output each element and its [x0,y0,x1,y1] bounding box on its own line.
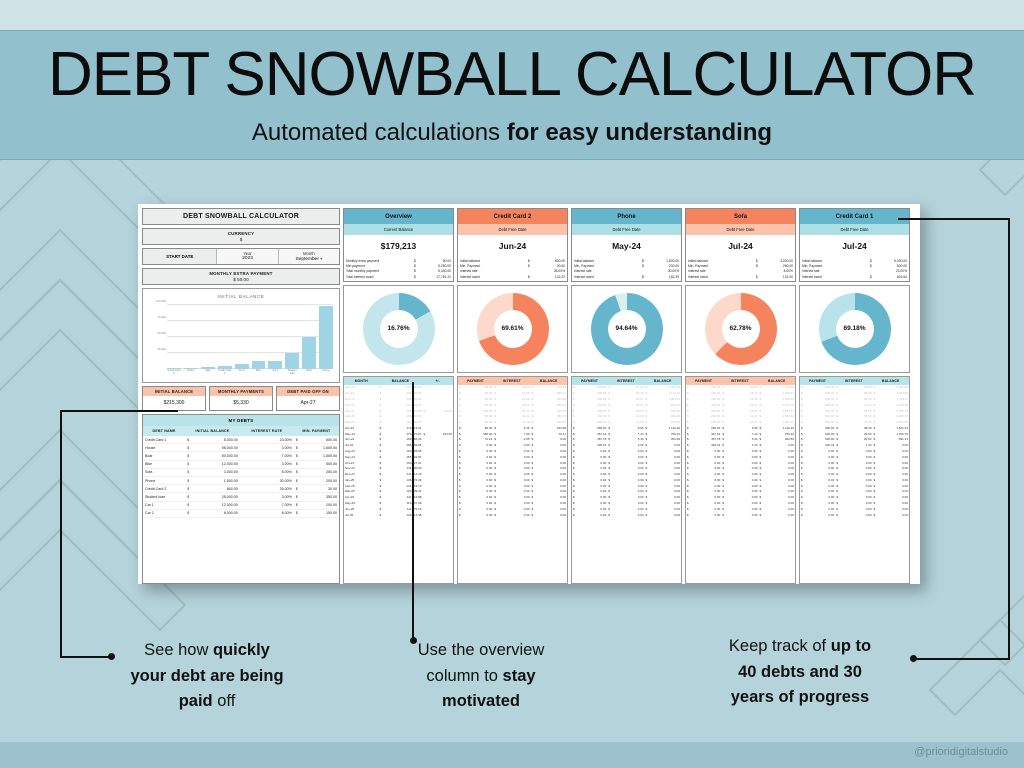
amortization-table[interactable]: MONTHBALANCE+/-Sep-23$215,300.00Oct-23$2… [343,376,454,585]
card-stat-row: Initial balance$800.00 [460,258,565,263]
amort-header-row: PAYMENTINTERESTBALANCE [800,377,909,385]
debt-min-payment: 30.00 [302,485,339,493]
donut-percent-label: 69.61% [494,310,532,348]
card-title: Sofa [686,209,795,224]
bar-chart-bar [302,337,316,369]
summary-cell-value: $215,300 [143,396,205,410]
currency-symbol: $ [294,493,302,501]
bar-chart-x-tick: Car 1 [268,370,282,380]
interest-cell: 0.00 [612,512,644,518]
progress-donut-chart: 94.64% [571,285,682,373]
top-strip [0,0,1024,30]
table-row[interactable]: $0.00$0.00$0.00 [458,512,567,518]
stat-value: 3,000.00 [763,259,793,263]
card-stat-row: Interest owed$602.64 [802,274,907,279]
bar-chart-y-tick: 100,000 [156,299,166,303]
callout-left-line3-bold: paid [179,692,213,710]
amort-header-row: PAYMENTINTERESTBALANCE [572,377,681,385]
bar-chart-bars [167,305,333,369]
amort-header-cell: PAYMENT [686,377,721,385]
currency-symbol: $ [642,264,649,268]
amort-header-cell: INTEREST [493,377,530,385]
callout-left-line1-bold: quickly [213,641,270,659]
card-title: Phone [572,209,681,224]
amortization-table[interactable]: PAYMENTINTERESTBALANCE$250.00$20.00$2,77… [685,376,796,585]
card-stat-row: Min. Payment$500.00 [802,263,907,268]
amortization-table[interactable]: PAYMENTINTERESTBALANCE$500.00$95.83$4,59… [799,376,910,585]
currency-label: CURRENCY [143,229,339,237]
amort-body: $250.00$20.00$2,770.00$250.00$18.47$2,53… [686,385,795,518]
table-row[interactable]: Jul-25$106,114.45 [344,512,453,518]
stat-label: Interest owed [802,275,870,279]
payment-cell: 0.00 [805,512,835,518]
currency-symbol: $ [642,259,649,263]
spreadsheet-screenshot[interactable]: DEBT SNOWBALL CALCULATOR CURRENCY $ STAR… [138,204,920,584]
debt-interest-rate: 3.00% [240,444,294,452]
my-debts-header-cell: INITIAL BALANCE [185,426,240,436]
callout-left-line2: your debt are being [130,667,283,685]
bar-chart-x-tick: Sofa [201,370,215,380]
card-title: Overview [344,209,453,224]
debt-initial-balance: 8,000.00 [193,509,240,517]
bar-chart-y-tick: 50,000 [157,331,166,335]
currency-value[interactable]: $ [143,237,339,244]
amort-header-row: PAYMENTINTERESTBALANCE [686,377,795,385]
currency-symbol: $ [185,476,193,484]
card-header: PhoneDebt Free DateMay-24Initial balance… [571,208,682,282]
table-row[interactable]: $0.00$0.00$0.00 [686,512,795,518]
callout-center-line3: motivated [442,692,520,710]
callout-left-line3-plain: off [213,692,236,710]
page-subtitle: Automated calculations for easy understa… [252,119,772,147]
currency-symbol: $ [185,493,193,501]
debt-initial-balance: 3,000.00 [193,468,240,476]
summary-cell-label: MONTHLY PAYMENTS [210,387,272,396]
stat-label: Min. Payment [688,264,756,268]
year-value[interactable]: 2023 [217,256,277,263]
debt-card-column[interactable]: Credit Card 1Debt Free DateJul-24Initial… [799,208,910,584]
debt-interest-rate: 8.00% [240,509,294,517]
stat-label: Monthly extra payment [346,259,414,263]
currency-symbol: $ [294,436,302,444]
donut-percent-label: 16.76% [380,310,418,348]
debt-initial-balance: 5,000.00 [193,436,240,444]
summary-cell-value: Apr-27 [277,396,339,410]
stat-value: 131.00 [763,275,793,279]
card-subtitle: Debt Free Date [458,224,567,235]
card-subtitle: Debt Free Date [686,224,795,235]
card-title: Credit Card 1 [800,209,909,224]
donut-ring: 69.18% [819,293,891,365]
debt-interest-rate: 7.00% [240,501,294,509]
card-header: Credit Card 1Debt Free DateJul-24Initial… [799,208,910,282]
balance-cell: 0.00 [650,512,681,518]
currency-symbol: $ [294,452,302,460]
start-date-month[interactable]: Month September ▾ [279,249,339,264]
card-stats: Initial balance$5,000.00Min. Payment$500… [800,258,909,281]
stat-label: Initial balance [574,259,642,263]
donut-ring: 16.76% [363,293,435,365]
month-value[interactable]: September ▾ [279,256,339,264]
stat-value: 142.22 [535,275,565,279]
currency-symbol: $ [185,501,193,509]
currency-symbol: $ [528,259,535,263]
debt-interest-rate: 3.00% [240,460,294,468]
debt-min-payment: 200.00 [302,476,339,484]
subtitle-plain: Automated calculations [252,119,507,146]
subtitle-bold: for easy understanding [507,119,772,146]
currency-symbol: $ [294,468,302,476]
card-stat-row: Interest rate8.00% [688,269,793,274]
amort-body: $500.00$95.83$4,595.83$500.00$88.08$4,18… [800,385,909,518]
delta-cell [427,512,453,518]
summary-cell: INITIAL BALANCE$215,300 [142,386,206,411]
card-header: OverviewCurrent Balance$179,213Monthly e… [343,208,454,282]
interest-cell: 0.00 [726,512,758,518]
bar-chart-x-tick: Car 2 [235,370,249,380]
bar-chart-x-tick: Student loan [285,370,299,380]
currency-block[interactable]: CURRENCY $ [142,228,340,245]
card-primary-value: May-24 [572,235,681,258]
card-stat-row: Initial balance$5,000.00 [802,258,907,263]
balance-cell: 106,114.45 [384,512,423,518]
bar-chart-y-tick: 75,000 [157,315,166,319]
debt-min-payment: 250.00 [302,468,339,476]
bar-chart-x-tick: Bike [252,370,266,380]
leader-line-right [898,218,1018,663]
page-header: DEBT SNOWBALL CALCULATOR Automated calcu… [0,30,1024,160]
card-primary-value: $179,213 [344,235,453,258]
bar-chart-x-axis: Credit Card 2PhoneSofaCredit Card 1Car 2… [167,370,333,380]
currency-symbol [756,269,763,273]
leader-line-left [60,410,180,660]
month-cell: Jul-25 [344,512,379,518]
callout-right-line3: years of progress [731,688,869,706]
card-stat-row: Min. Payment$200.00 [574,263,679,268]
card-stat-row: Total monthly payment$5,330.00 [346,269,451,274]
bar-chart-plot [167,305,333,369]
amort-body: Sep-23$215,300.00Oct-23$209,020.00Nov-23… [344,385,453,518]
currency-symbol [642,269,649,273]
debt-interest-rate: 3.00% [240,493,294,501]
summary-cell: MONTHLY PAYMENTS$5,330 [209,386,273,411]
card-stat-row: Interest owed$142.22 [460,274,565,279]
card-primary-value: Jun-24 [458,235,567,258]
stat-value: 35.00% [535,269,565,273]
bar-chart-title: INITIAL BALANCE [147,294,335,299]
amort-header-row: PAYMENTINTERESTBALANCE [458,377,567,385]
summary-row: INITIAL BALANCE$215,300MONTHLY PAYMENTS$… [142,386,340,411]
card-subtitle: Current Balance [344,224,453,235]
currency-symbol: $ [294,485,302,493]
debt-initial-balance: 1,500.00 [193,476,240,484]
payment-cell: 0.00 [691,512,721,518]
stat-value: 8.00% [763,269,793,273]
initial-balance-bar-chart: INITIAL BALANCE -25,00050,00075,000100,0… [142,288,340,383]
stat-label: Interest owed [574,275,642,279]
stat-label: Interest rate [460,269,528,273]
stat-label: Initial balance [460,259,528,263]
amort-header-cell: INTEREST [835,377,872,385]
currency-symbol: $ [294,476,302,484]
stat-label: Initial balance [802,259,870,263]
amort-body: $200.00$37.50$1,337.50$200.00$33.44$1,17… [572,385,681,518]
debt-interest-rate: 30.00% [240,476,294,484]
stat-value: 30.00 [535,264,565,268]
card-stat-row: Min. Payment$250.00 [688,263,793,268]
extra-payment-label: MONTHLY EXTRA PAYMENT [143,269,339,277]
currency-symbol: $ [414,269,421,273]
bar-chart-y-tick: - [165,363,166,367]
stat-value: 1,500.00 [649,259,679,263]
currency-symbol: $ [870,275,877,279]
progress-donut-chart: 16.76% [343,285,454,373]
debt-card-column[interactable]: Credit Card 2Debt Free DateJun-24Initial… [457,208,568,584]
debt-interest-rate: 7.00% [240,452,294,460]
currency-symbol: $ [870,259,877,263]
card-subtitle: Debt Free Date [800,224,909,235]
stat-label: Initial balance [688,259,756,263]
currency-symbol: $ [756,259,763,263]
currency-symbol: $ [185,460,193,468]
debt-interest-rate: 8.00% [240,468,294,476]
bar-chart-x-tick: Phone [184,370,198,380]
stat-label: Min. Payment [460,264,528,268]
footer-strip [0,742,1024,768]
card-stat-row: Interest rate23.00% [802,269,907,274]
currency-symbol: $ [294,501,302,509]
debt-interest-rate: 23.00% [240,436,294,444]
debt-min-payment: 350.00 [302,493,339,501]
debt-initial-balance: 50,000.00 [193,452,240,460]
currency-symbol: $ [414,259,421,263]
extra-payment-value[interactable]: $ 50.00 [143,277,339,284]
debt-interest-rate: 35.00% [240,485,294,493]
debt-min-payment: 1,600.00 [302,444,339,452]
currency-symbol: $ [294,460,302,468]
my-debts-header-cell: MIN. PAYMENT [294,426,339,436]
currency-symbol: $ [414,275,421,279]
card-stats: Initial balance$800.00Min. Payment$30.00… [458,258,567,281]
card-stat-row: Interest owed$131.00 [688,274,793,279]
stat-label: Total monthly payment [346,269,414,273]
page-title: DEBT SNOWBALL CALCULATOR [48,44,976,106]
chevron-down-icon[interactable]: ▾ [320,256,322,261]
debt-card-column[interactable]: PhoneDebt Free DateMay-24Initial balance… [571,208,682,584]
card-stats: Initial balance$1,500.00Min. Payment$200… [572,258,681,281]
start-date-year[interactable]: Year 2023 [217,249,278,264]
currency-symbol: $ [185,452,193,460]
start-date-label: START DATE [143,249,217,264]
debt-min-payment: 1,500.00 [302,452,339,460]
debt-initial-balance: 25,000.00 [193,493,240,501]
donut-percent-label: 69.18% [836,310,874,348]
callout-center-line2-bold: stay [503,667,536,685]
debt-min-payment: 500.00 [302,436,339,444]
table-row[interactable]: $0.00$0.00$0.00 [800,512,909,518]
stat-value: 182.39 [649,275,679,279]
donut-ring: 94.64% [591,293,663,365]
bar-chart-x-tick: Boat [302,370,316,380]
summary-cell: DEBT PAID OFF ONApr-27 [276,386,340,411]
payment-cell: 0.00 [577,512,607,518]
amort-header-cell: BALANCE [531,377,567,385]
amort-header-cell: PAYMENT [458,377,493,385]
card-primary-value: Jul-24 [686,235,795,258]
debt-initial-balance: 12,000.00 [193,460,240,468]
my-debts-header-cell: INTEREST RATE [240,426,294,436]
stat-value: 17,781.21 [421,275,451,279]
month-value-text: September [295,257,318,262]
stat-value: 200.00 [649,264,679,268]
card-subtitle: Debt Free Date [572,224,681,235]
callout-right-line1-plain: Keep track of [729,637,831,655]
stat-label: Interest rate [688,269,756,273]
stat-label: Min payment [346,264,414,268]
callout-center: Use the overview column to stay motivate… [392,638,570,715]
amort-header-cell: BALANCE [645,377,681,385]
stat-value: 250.00 [763,264,793,268]
summary-cell-value: $5,330 [210,396,272,410]
amort-header-cell: +/- [422,377,453,385]
currency-symbol: $ [870,264,877,268]
table-row[interactable]: $0.00$0.00$0.00 [572,512,681,518]
stat-value: 50.00 [421,259,451,263]
summary-cell-label: INITIAL BALANCE [143,387,205,396]
amortization-table[interactable]: PAYMENTINTERESTBALANCE$200.00$37.50$1,33… [571,376,682,585]
card-stats: Initial balance$3,000.00Min. Payment$250… [686,258,795,281]
card-stat-row: Initial balance$1,500.00 [574,258,679,263]
callout-center-line2-plain: column to [426,667,502,685]
currency-symbol: $ [185,485,193,493]
card-stat-row: Monthly extra payment$50.00 [346,258,451,263]
payment-cell: 0.00 [463,512,493,518]
stat-label: Total interest owed [346,275,414,279]
progress-donut-chart: 69.61% [457,285,568,373]
amort-header-cell: PAYMENT [800,377,835,385]
amort-header-cell: INTEREST [607,377,644,385]
balance-cell: 0.00 [536,512,567,518]
callout-right: Keep track of up to 40 debts and 30 year… [700,634,900,711]
currency-symbol: $ [185,509,193,517]
card-stat-row: Interest rate30.00% [574,269,679,274]
callout-center-line1: Use the overview [418,641,545,659]
interest-cell: 0.00 [840,512,872,518]
card-primary-value: Jul-24 [800,235,909,258]
donut-percent-label: 62.78% [722,310,760,348]
card-header: Credit Card 2Debt Free DateJun-24Initial… [457,208,568,282]
bar-chart-y-tick: 25,000 [157,347,166,351]
currency-symbol [870,269,877,273]
card-title: Credit Card 2 [458,209,567,224]
currency-symbol: $ [528,275,535,279]
start-date-block[interactable]: START DATE Year 2023 Month September ▾ [142,248,340,265]
leader-line-center [410,382,416,642]
amortization-table[interactable]: PAYMENTINTERESTBALANCE$80.00$23.33$743.3… [457,376,568,585]
currency-symbol: $ [642,275,649,279]
card-stat-row: Min. Payment$30.00 [460,263,565,268]
debt-card-column[interactable]: SofaDebt Free DateJul-24Initial balance$… [685,208,796,584]
progress-donut-chart: 62.78% [685,285,796,373]
currency-symbol: $ [185,436,193,444]
amort-header-cell: INTEREST [721,377,758,385]
card-stat-row: Initial balance$3,000.00 [688,258,793,263]
bar-chart-x-tick: House [319,370,333,380]
bar-chart-x-tick: Credit Card 1 [218,370,232,380]
stat-label: Interest rate [574,269,642,273]
stat-label: Min. Payment [802,264,870,268]
interest-cell: 0.00 [498,512,530,518]
summary-cell-label: DEBT PAID OFF ON [277,387,339,396]
debt-min-payment: 200.00 [302,501,339,509]
bar-chart-bar [285,353,299,369]
debt-initial-balance: 12,000.00 [193,501,240,509]
card-stat-row: Total interest owed$17,781.21 [346,274,451,279]
stat-value: 5,330.00 [421,269,451,273]
debt-initial-balance: 800.00 [193,485,240,493]
bar-chart-y-axis: -25,00050,00075,000100,000 [145,305,167,369]
amort-body: $80.00$23.33$743.33$80.00$21.68$685.01$8… [458,385,567,518]
currency-symbol: $ [185,444,193,452]
currency-symbol: $ [414,264,421,268]
callout-right-line2: 40 debts and 30 [738,663,862,681]
watermark: @prioridigitalstudio [914,746,1008,758]
amort-header-row: MONTHBALANCE+/- [344,377,453,385]
stat-value: 30.00% [649,269,679,273]
progress-donut-chart: 69.18% [799,285,910,373]
stat-label: Min. Payment [574,264,642,268]
month-label: Month [279,249,339,256]
debt-min-payment: 150.00 [302,509,339,517]
balance-cell: 0.00 [764,512,795,518]
amort-header-cell: PAYMENT [572,377,607,385]
currency-symbol: $ [528,264,535,268]
stat-value: 5,280.00 [421,264,451,268]
currency-symbol: $ [294,509,302,517]
donut-ring: 62.78% [705,293,777,365]
currency-symbol [528,269,535,273]
bar-chart-bar [268,361,282,369]
bar-chart-x-tick: Credit Card 2 [167,370,181,380]
currency-symbol: $ [756,275,763,279]
currency-symbol: $ [294,444,302,452]
card-stat-row: Interest rate35.00% [460,269,565,274]
debt-card-column[interactable]: OverviewCurrent Balance$179,213Monthly e… [343,208,454,584]
debt-initial-balance: 98,000.00 [193,444,240,452]
callout-right-line1-bold: up to [831,637,871,655]
stat-label: Interest owed [688,275,756,279]
stat-label: Interest rate [802,269,870,273]
extra-payment-block[interactable]: MONTHLY EXTRA PAYMENT $ 50.00 [142,268,340,285]
amort-header-cell: MONTH [344,377,379,385]
card-stat-row: Min payment$5,280.00 [346,263,451,268]
year-label: Year [217,249,277,256]
bar-chart-bar [319,306,333,369]
bar-chart-bar [252,361,266,369]
currency-symbol: $ [185,468,193,476]
donut-ring: 69.61% [477,293,549,365]
amort-header-cell: BALANCE [759,377,795,385]
currency-symbol: $ [756,264,763,268]
donut-percent-label: 94.64% [608,310,646,348]
card-stats: Monthly extra payment$50.00Min payment$5… [344,258,453,281]
stat-label: Interest owed [460,275,528,279]
debt-min-payment: 500.00 [302,460,339,468]
sheet-title: DEBT SNOWBALL CALCULATOR [142,208,340,225]
stat-value: 800.00 [535,259,565,263]
card-header: SofaDebt Free DateJul-24Initial balance$… [685,208,796,282]
card-stat-row: Interest owed$182.39 [574,274,679,279]
